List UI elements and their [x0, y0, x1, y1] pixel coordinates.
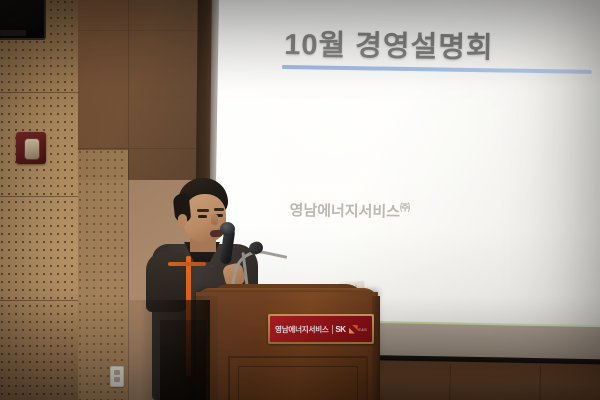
acoustic-perforated-panel-secondary: [78, 150, 128, 400]
presenter-nose: [211, 214, 218, 225]
monitor-mount: [0, 30, 26, 36]
slide-title: 10월 경영설명회: [284, 21, 494, 66]
fire-alarm-indicator: [24, 138, 40, 160]
wall-outlet-icon: [110, 366, 124, 387]
monitor-icon: [0, 0, 46, 40]
presenter-ear: [178, 214, 187, 227]
wood-seam: [539, 365, 541, 400]
presenter-brow: [214, 208, 224, 211]
slide-logo-suffix: ㈜: [400, 203, 410, 214]
wood-seam: [449, 364, 451, 400]
outlet-socket-top: [114, 370, 120, 375]
jacket-stripe-horizontal: [168, 262, 206, 266]
slide-logo-text: 영남에너지서비스: [289, 202, 400, 221]
panel-shadow-overlay: [0, 0, 78, 400]
podium-highlight: [196, 292, 378, 400]
presenter-brow: [197, 209, 209, 212]
outlet-socket-bottom: [114, 377, 120, 382]
slide-logo: 영남에너지서비스㈜: [289, 197, 410, 222]
fire-alarm-icon[interactable]: [16, 132, 46, 164]
photo-scene: 10월 경영설명회 영남에너지서비스㈜: [0, 0, 600, 400]
presenter-eye: [198, 215, 207, 218]
wall-seam: [128, 150, 129, 400]
foreground-shadow: [140, 300, 210, 400]
